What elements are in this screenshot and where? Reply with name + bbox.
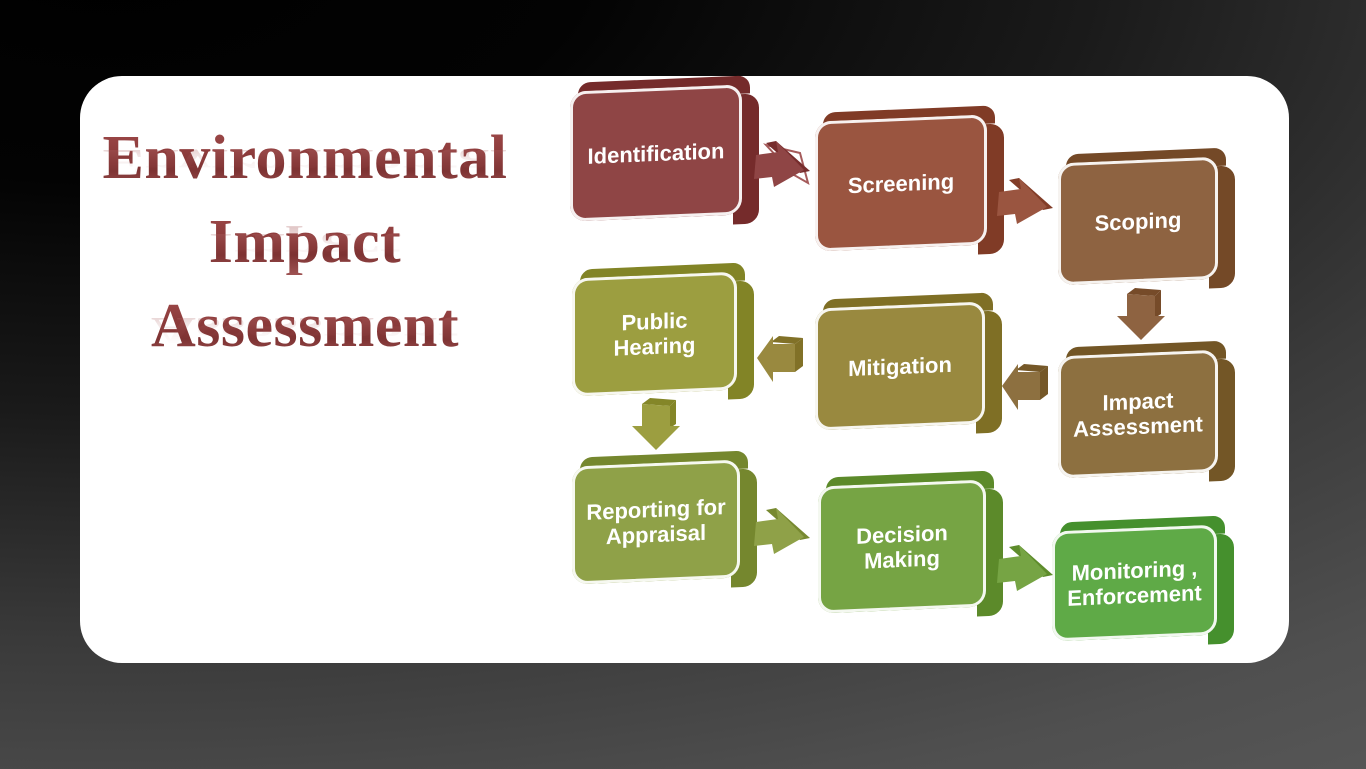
arrow-body <box>997 178 1047 224</box>
process-step-label: Identification <box>570 84 742 221</box>
title-line-1-text: Environmental <box>60 125 550 191</box>
arrow-scoping-to-impact-assessment <box>1117 288 1173 350</box>
process-step-monitoring-enforcement[interactable]: Monitoring ,Enforcement <box>1052 528 1217 638</box>
arrow-body <box>754 508 804 554</box>
process-step-label: Reporting forAppraisal <box>572 459 740 584</box>
slide-canvas: Environmental Environmental Impact Impac… <box>0 0 1366 769</box>
title-line-3: Assessment Assessment <box>60 293 550 377</box>
arrow-decision-making-to-monitoring <box>997 545 1057 611</box>
title-line-2-text: Impact <box>60 209 550 275</box>
process-step-public-hearing[interactable]: PublicHearing <box>572 275 737 393</box>
process-step-label: Screening <box>815 114 987 251</box>
process-step-decision-making[interactable]: DecisionMaking <box>818 483 986 610</box>
process-step-label: Scoping <box>1058 157 1218 286</box>
arrow-mitigation-to-public-hearing <box>757 334 813 390</box>
arrow-body <box>997 545 1047 591</box>
title-line-1: Environmental Environmental <box>60 125 550 209</box>
process-step-label: DecisionMaking <box>818 479 986 613</box>
arrow-screening-to-scoping <box>997 178 1057 244</box>
arrow-public-hearing-to-reporting <box>632 398 688 460</box>
arrow-identification-to-screening <box>754 141 814 207</box>
title-line-2: Impact Impact <box>60 209 550 293</box>
title-line-3-text: Assessment <box>60 293 550 359</box>
process-step-reporting-for-appraisal[interactable]: Reporting forAppraisal <box>572 463 740 581</box>
page-title: Environmental Environmental Impact Impac… <box>60 125 550 377</box>
process-step-label: Mitigation <box>815 301 985 430</box>
process-step-label: Monitoring ,Enforcement <box>1052 525 1217 642</box>
process-step-scoping[interactable]: Scoping <box>1058 160 1218 282</box>
process-step-screening[interactable]: Screening <box>815 118 987 248</box>
arrow-reporting-to-decision-making <box>754 508 814 574</box>
process-step-impact-assessment[interactable]: ImpactAssessment <box>1058 353 1218 475</box>
process-step-identification[interactable]: Identification <box>570 88 742 218</box>
arrow-impact-assessment-to-mitigation <box>1002 362 1058 418</box>
process-step-mitigation[interactable]: Mitigation <box>815 305 985 427</box>
process-step-label: ImpactAssessment <box>1058 350 1218 479</box>
process-step-label: PublicHearing <box>572 272 737 397</box>
arrow-side-bevel <box>795 338 803 372</box>
